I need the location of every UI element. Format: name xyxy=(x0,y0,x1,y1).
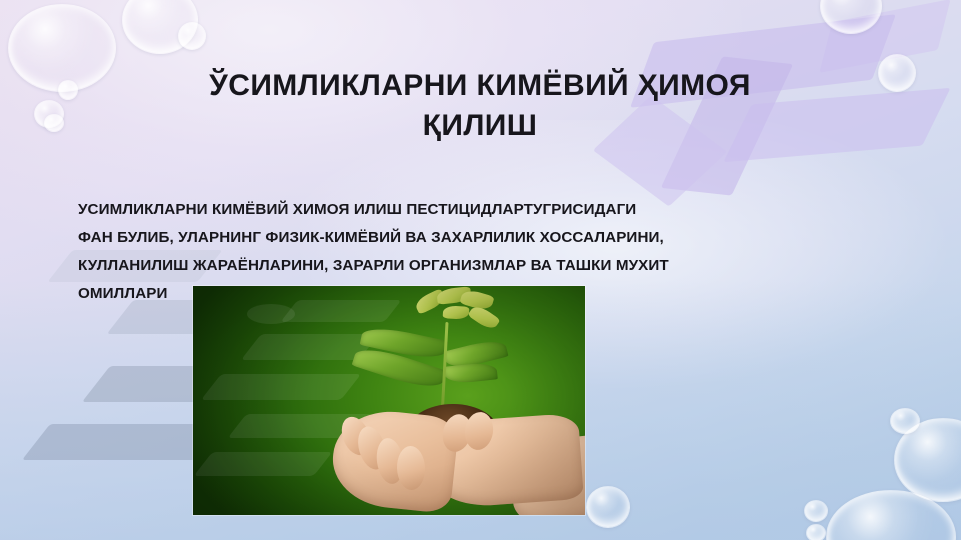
bubble-icon xyxy=(44,114,64,132)
body-line-2: ФАН БУЛИБ, УЛАРНИНГ ФИЗИК-КИМЁВИЙ ВА ЗАХ… xyxy=(78,224,884,252)
seedling-photo xyxy=(193,286,585,515)
bubble-icon xyxy=(826,490,956,540)
watermark-purple-stroke-5 xyxy=(819,0,950,73)
bubble-icon xyxy=(890,408,920,434)
presentation-slide: ЎСИМЛИКЛАРНИ КИМЁВИЙ ҲИМОЯ ҚИЛИШ УСИМЛИК… xyxy=(0,0,961,540)
bubble-icon xyxy=(804,500,828,522)
bubble-icon xyxy=(178,22,206,50)
body-line-3: КУЛЛАНИЛИШ ЖАРАЁНЛАРИНИ, ЗАРАРЛИ ОРГАНИЗ… xyxy=(78,252,884,280)
bubble-icon xyxy=(806,524,826,540)
slide-title: ЎСИМЛИКЛАРНИ КИМЁВИЙ ҲИМОЯ ҚИЛИШ xyxy=(70,66,890,145)
bubble-icon xyxy=(34,100,64,128)
photo-vignette xyxy=(193,286,585,515)
bubble-icon xyxy=(586,486,630,528)
body-line-1: УСИМЛИКЛАРНИ КИМЁВИЙ ХИМОЯ ИЛИШ ПЕСТИЦИД… xyxy=(78,196,884,224)
bubble-icon xyxy=(820,0,882,34)
title-line-1: ЎСИМЛИКЛАРНИ КИМЁВИЙ ҲИМОЯ xyxy=(70,66,890,106)
bubble-icon xyxy=(894,418,961,502)
title-line-2: ҚИЛИШ xyxy=(70,106,890,146)
bubble-icon xyxy=(122,0,198,54)
